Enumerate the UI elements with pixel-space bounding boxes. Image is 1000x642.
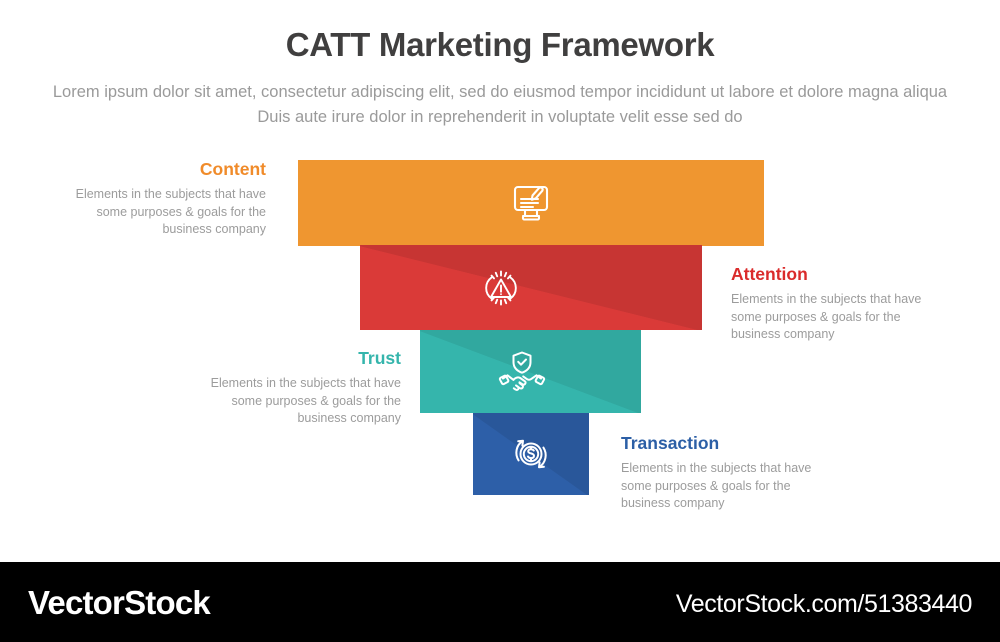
vectorstock-logo: VectorStock (28, 584, 210, 622)
stage-description-attention: Elements in the subjects that have some … (731, 291, 946, 344)
funnel-bar-attention[interactable] (360, 245, 702, 330)
funnel-bar-trust[interactable] (420, 330, 641, 413)
stage-description-transaction: Elements in the subjects that have some … (621, 460, 836, 513)
stage-block-content: Content Elements in the subjects that ha… (60, 159, 266, 239)
stage-label-content: Content (60, 159, 266, 179)
stage-block-transaction: Transaction Elements in the subjects tha… (621, 433, 836, 513)
stage-label-trust: Trust (190, 348, 401, 368)
stage-label-transaction: Transaction (621, 433, 836, 453)
vectorstock-url: VectorStock.com/51383440 (676, 590, 972, 619)
stage-block-attention: Attention Elements in the subjects that … (731, 264, 946, 344)
infographic-canvas: CATT Marketing Framework Lorem ipsum dol… (0, 0, 1000, 562)
stage-description-content: Elements in the subjects that have some … (60, 186, 266, 239)
page-subtitle: Lorem ipsum dolor sit amet, consectetur … (50, 80, 950, 130)
funnel-bar-transaction[interactable] (473, 413, 589, 495)
handshake-shield-icon (420, 330, 632, 413)
page-title: CATT Marketing Framework (0, 26, 1000, 64)
monitor-pen-icon (298, 160, 764, 246)
stage-block-trust: Trust Elements in the subjects that have… (190, 348, 401, 428)
watermark-footer: VectorStock VectorStock.com/51383440 (0, 562, 1000, 642)
dollar-cycle-icon (473, 413, 589, 495)
stage-description-trust: Elements in the subjects that have some … (190, 375, 401, 428)
funnel-bar-content[interactable] (298, 160, 764, 246)
stage-label-attention: Attention (731, 264, 946, 284)
warning-alert-icon (360, 245, 672, 330)
